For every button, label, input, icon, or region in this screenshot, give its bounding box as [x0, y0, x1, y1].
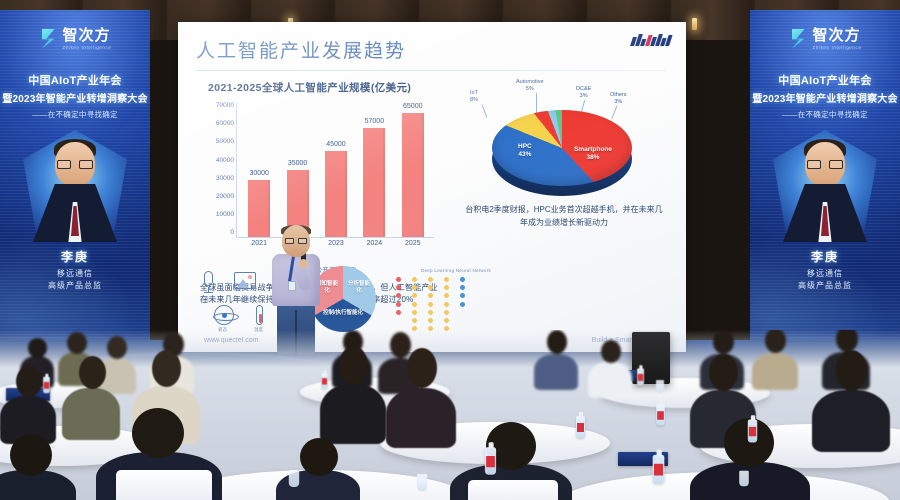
conference-scene: 智次方 Zhiken Intelligence 中国AIoT产业年会 暨2023…: [0, 0, 900, 500]
water-bottle: [653, 455, 665, 484]
sensor-label: 图像: [240, 297, 249, 303]
quectel-logo-icon: [630, 34, 672, 46]
sensor-label: 声音: [200, 297, 209, 303]
y-tick: 50000: [216, 139, 234, 146]
x-tick: 2025: [402, 240, 424, 247]
audience-member: [0, 434, 76, 500]
bar-item: 45000: [325, 151, 347, 237]
bar: [325, 151, 347, 237]
neural-net-layers: [396, 277, 465, 331]
banner-logo-en: Zhiken Intelligence: [63, 45, 112, 50]
water-bottle: [321, 373, 327, 389]
bar-chart-y-axis: 70000 60000 50000 40000 30000 20000 1000…: [200, 103, 234, 237]
bar-value-label: 45000: [326, 141, 345, 148]
microphone-icon: [204, 271, 213, 293]
banner-logo-cn: 智次方: [63, 28, 112, 43]
water-bottle: [576, 416, 585, 438]
image-icon: [234, 272, 256, 289]
water-bottle: [43, 377, 50, 394]
banner-headline-1: 中国AIoT产业年会: [750, 72, 900, 88]
water-bottle: [656, 405, 665, 426]
bar-chart-title: 2021-2025全球人工智能产业规模(亿美元): [208, 80, 438, 95]
led-banner-left: 智次方 Zhiken Intelligence 中国AIoT产业年会 暨2023…: [0, 10, 150, 340]
audience-member: [752, 330, 798, 388]
y-tick: 10000: [216, 212, 234, 219]
wall-lamp: [692, 18, 697, 30]
nn-layer: [396, 277, 401, 331]
pie-slice-smartphone: Smartphone 38%: [574, 146, 612, 163]
y-tick: 20000: [216, 194, 234, 201]
drinking-glass: [739, 471, 749, 487]
bar-value-label: 35000: [288, 160, 307, 167]
banner-headline-3: ——在不确定中寻找确定: [750, 109, 900, 120]
bar: [363, 128, 385, 237]
speaker-role: 高级产品总监: [0, 280, 150, 291]
banner-headline-2: 暨2023年智能产业转增洞察大会: [750, 90, 900, 105]
banner-logo: 智次方 Zhiken Intelligence: [750, 28, 900, 50]
chair-back: [116, 470, 212, 500]
speaker-role: 高级产品总监: [750, 280, 900, 291]
bar-series: 30000 35000 45000 57000: [240, 103, 432, 237]
audience-area: [0, 330, 900, 500]
audience-member: [534, 330, 578, 388]
audience-member: [588, 340, 632, 396]
pie-slice-hpc: HPC 43%: [518, 143, 532, 160]
nn-layer: [444, 277, 449, 331]
bar-value-label: 57000: [365, 118, 384, 125]
zhicifang-logo-icon: [789, 28, 809, 50]
audience-member: [812, 350, 890, 450]
y-tick: 60000: [216, 121, 234, 128]
water-bottle: [485, 447, 496, 475]
y-tick: 40000: [216, 158, 234, 165]
pie-3d: HPC 43% Smartphone 38%: [492, 110, 632, 196]
chair-back: [468, 480, 558, 500]
pie-label-automotive: Automotive 5%: [516, 79, 544, 93]
wheel-segment-control: 控制/执行智能化: [322, 310, 364, 317]
gyroscope-icon: [214, 305, 234, 325]
drinking-glass: [289, 470, 299, 487]
x-tick: 2023: [325, 240, 347, 247]
speaker-org: 移远通信: [0, 268, 150, 279]
neural-net-title: Deep Learning Neural Network: [390, 268, 522, 273]
pie-note-text: 台积电2季度财报，HPC业务首次超越手机，并在未来几年成为业绩增长新驱动力: [464, 204, 664, 230]
banner-headline-3: ——在不确定中寻找确定: [0, 109, 150, 120]
y-tick: 0: [230, 230, 234, 237]
drinking-glass: [656, 380, 664, 393]
water-bottle: [637, 368, 644, 385]
nn-layer: [460, 277, 465, 331]
pie-label-name: Others: [610, 92, 627, 99]
speaker-portrait: [23, 130, 127, 242]
pie-chart-block: IoT 8% Automotive 5% DC&E 3%: [464, 78, 664, 230]
drinking-glass: [417, 474, 427, 491]
pie-label-value: 5%: [516, 86, 544, 93]
speaker-org: 移远通信: [750, 268, 900, 279]
nn-layer: [428, 277, 433, 331]
speaker-name: 李庚: [0, 248, 150, 265]
pie-label-value: 3%: [576, 93, 591, 100]
banner-headline-1: 中国AIoT产业年会: [0, 72, 150, 88]
wheel-segment-analysis: 分析智能化: [347, 281, 371, 295]
bar-item: 57000: [363, 128, 385, 237]
y-tick: 30000: [216, 176, 234, 183]
zhicifang-logo-icon: [39, 28, 59, 50]
glasses-icon: [285, 238, 307, 244]
banner-logo-en: Zhiken Intelligence: [813, 45, 862, 50]
pie-label-value: 3%: [610, 99, 627, 106]
pie-label-dce: DC&E 3%: [576, 86, 591, 100]
glasses-icon: [807, 160, 843, 169]
bar-value-label: 30000: [249, 170, 268, 177]
audience-member: [386, 348, 456, 446]
pie-label-others: Others 3%: [610, 92, 627, 106]
glasses-icon: [57, 160, 93, 169]
slide-title: 人工智能产业发展趋势: [196, 36, 668, 63]
x-tick: 2024: [363, 240, 385, 247]
bar: [402, 113, 424, 237]
y-tick: 70000: [216, 103, 234, 110]
water-bottle: [748, 419, 757, 442]
pie-label-value: 8%: [470, 97, 478, 104]
speaker-name: 李庚: [750, 248, 900, 265]
audience-member: [320, 346, 386, 442]
pie-label-name: DC&E: [576, 86, 591, 93]
projection-screen: 人工智能产业发展趋势 2021-2025全球人工智能产业规模(亿美元) 7000…: [178, 22, 686, 352]
led-banner-right: 智次方 Zhiken Intelligence 中国AIoT产业年会 暨2023…: [750, 10, 900, 340]
pie-label-iot: IoT 8%: [470, 90, 478, 104]
neural-network-diagram: Deep Learning Neural Network: [390, 268, 522, 330]
nn-layer: [412, 277, 417, 331]
pie-label-name: Automotive: [516, 79, 544, 86]
bar-value-label: 65000: [403, 103, 422, 110]
audience-member: [276, 438, 360, 500]
y-axis-line: [236, 103, 237, 237]
pie-chart-plot: IoT 8% Automotive 5% DC&E 3%: [464, 78, 664, 198]
speaker-portrait: [773, 130, 877, 242]
badge: [288, 281, 296, 291]
banner-headline-2: 暨2023年智能产业转增洞察大会: [0, 90, 150, 105]
thermometer-icon: [256, 305, 263, 325]
presentation-slide: 人工智能产业发展趋势 2021-2025全球人工智能产业规模(亿美元) 7000…: [178, 22, 686, 352]
title-divider: [196, 70, 666, 71]
bar-item: 65000: [402, 113, 424, 237]
pie-label-name: IoT: [470, 90, 478, 97]
banner-logo-cn: 智次方: [813, 28, 862, 43]
banner-logo: 智次方 Zhiken Intelligence: [0, 28, 150, 50]
